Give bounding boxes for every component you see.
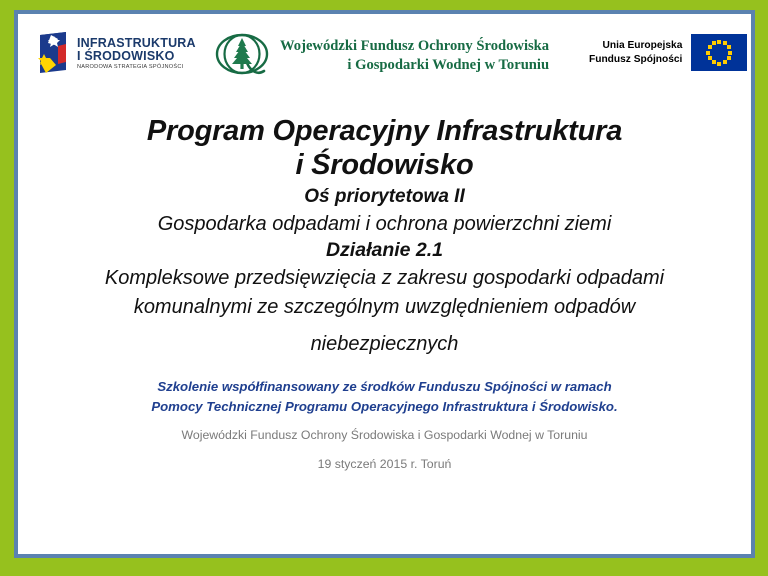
eu-flag-star — [712, 60, 716, 64]
unia-europejska-logo-text: Unia Europejska Fundusz Spójności — [589, 39, 682, 67]
eu-flag-star — [708, 45, 712, 49]
eu-flag-star — [712, 41, 716, 45]
slide-content-area: INFRASTRUKTURA I ŚRODOWISKO NARODOWA STR… — [18, 14, 751, 554]
organiser-name: Wojewódzki Fundusz Ochrony Środowiska i … — [18, 428, 751, 442]
eu-flag-star — [706, 51, 710, 55]
measure-description-line-3: niebezpiecznych — [18, 332, 751, 356]
eu-flag-star — [727, 56, 731, 60]
measure-description-line-1: Kompleksowe przedsięwzięcia z zakresu go… — [18, 265, 751, 293]
logo-bar: INFRASTRUKTURA I ŚRODOWISKO NARODOWA STR… — [18, 30, 751, 92]
eu-flag-icon — [691, 34, 747, 71]
measure-label: Działanie 2.1 — [18, 239, 751, 262]
funding-note: Szkolenie współfinansowany ze środków Fu… — [18, 377, 751, 418]
eu-flag-star — [717, 62, 721, 66]
nss-line-3: NARODOWA STRATEGIA SPÓJNOŚCI — [77, 65, 196, 71]
priority-axis-label: Oś priorytetowa II — [18, 186, 751, 209]
infrastruktura-i-srodowisko-logo: INFRASTRUKTURA I ŚRODOWISKO NARODOWA STR… — [36, 32, 196, 76]
page-title: Program Operacyjny Infrastruktura i Środ… — [18, 114, 751, 356]
nss-flag-icon — [36, 32, 70, 76]
unia-europejska-logo: Unia Europejska Fundusz Spójności — [589, 34, 747, 71]
eu-flag-star — [728, 51, 732, 55]
nss-line-1: INFRASTRUKTURA — [77, 37, 196, 50]
wfosigw-logo-text: Wojewódzki Fundusz Ochrony Środowiska i … — [280, 37, 549, 74]
nss-logo-text: INFRASTRUKTURA I ŚRODOWISKO NARODOWA STR… — [77, 37, 196, 71]
eu-flag-star — [708, 56, 712, 60]
slide-outer-green-frame: INFRASTRUKTURA I ŚRODOWISKO NARODOWA STR… — [0, 0, 768, 576]
eu-flag-star — [717, 40, 721, 44]
priority-axis-name: Gospodarka odpadami i ochrona powierzchn… — [18, 212, 751, 236]
wfosigw-torun-logo: Wojewódzki Fundusz Ochrony Środowiska i … — [214, 30, 549, 82]
wfosigw-line-2: i Gospodarki Wodnej w Toruniu — [280, 56, 549, 75]
program-title-line-2: i Środowisko — [18, 148, 751, 182]
ue-line-1: Unia Europejska — [589, 39, 682, 53]
date-and-place: 19 styczeń 2015 r. Toruń — [18, 457, 751, 471]
ue-line-2: Fundusz Spójności — [589, 53, 682, 67]
funding-note-line-2: Pomocy Technicznej Programu Operacyjnego… — [18, 397, 751, 417]
eu-flag-star — [727, 45, 731, 49]
wfosigw-line-1: Wojewódzki Fundusz Ochrony Środowiska — [280, 37, 549, 56]
eu-flag-star — [723, 60, 727, 64]
program-title-line-1: Program Operacyjny Infrastruktura — [18, 114, 751, 148]
nss-line-2: I ŚRODOWISKO — [77, 50, 196, 63]
wfosigw-tree-emblem-icon — [214, 30, 270, 82]
measure-description-line-2: komunalnymi ze szczególnym uwzględnienie… — [18, 294, 751, 322]
funding-note-line-1: Szkolenie współfinansowany ze środków Fu… — [18, 377, 751, 397]
